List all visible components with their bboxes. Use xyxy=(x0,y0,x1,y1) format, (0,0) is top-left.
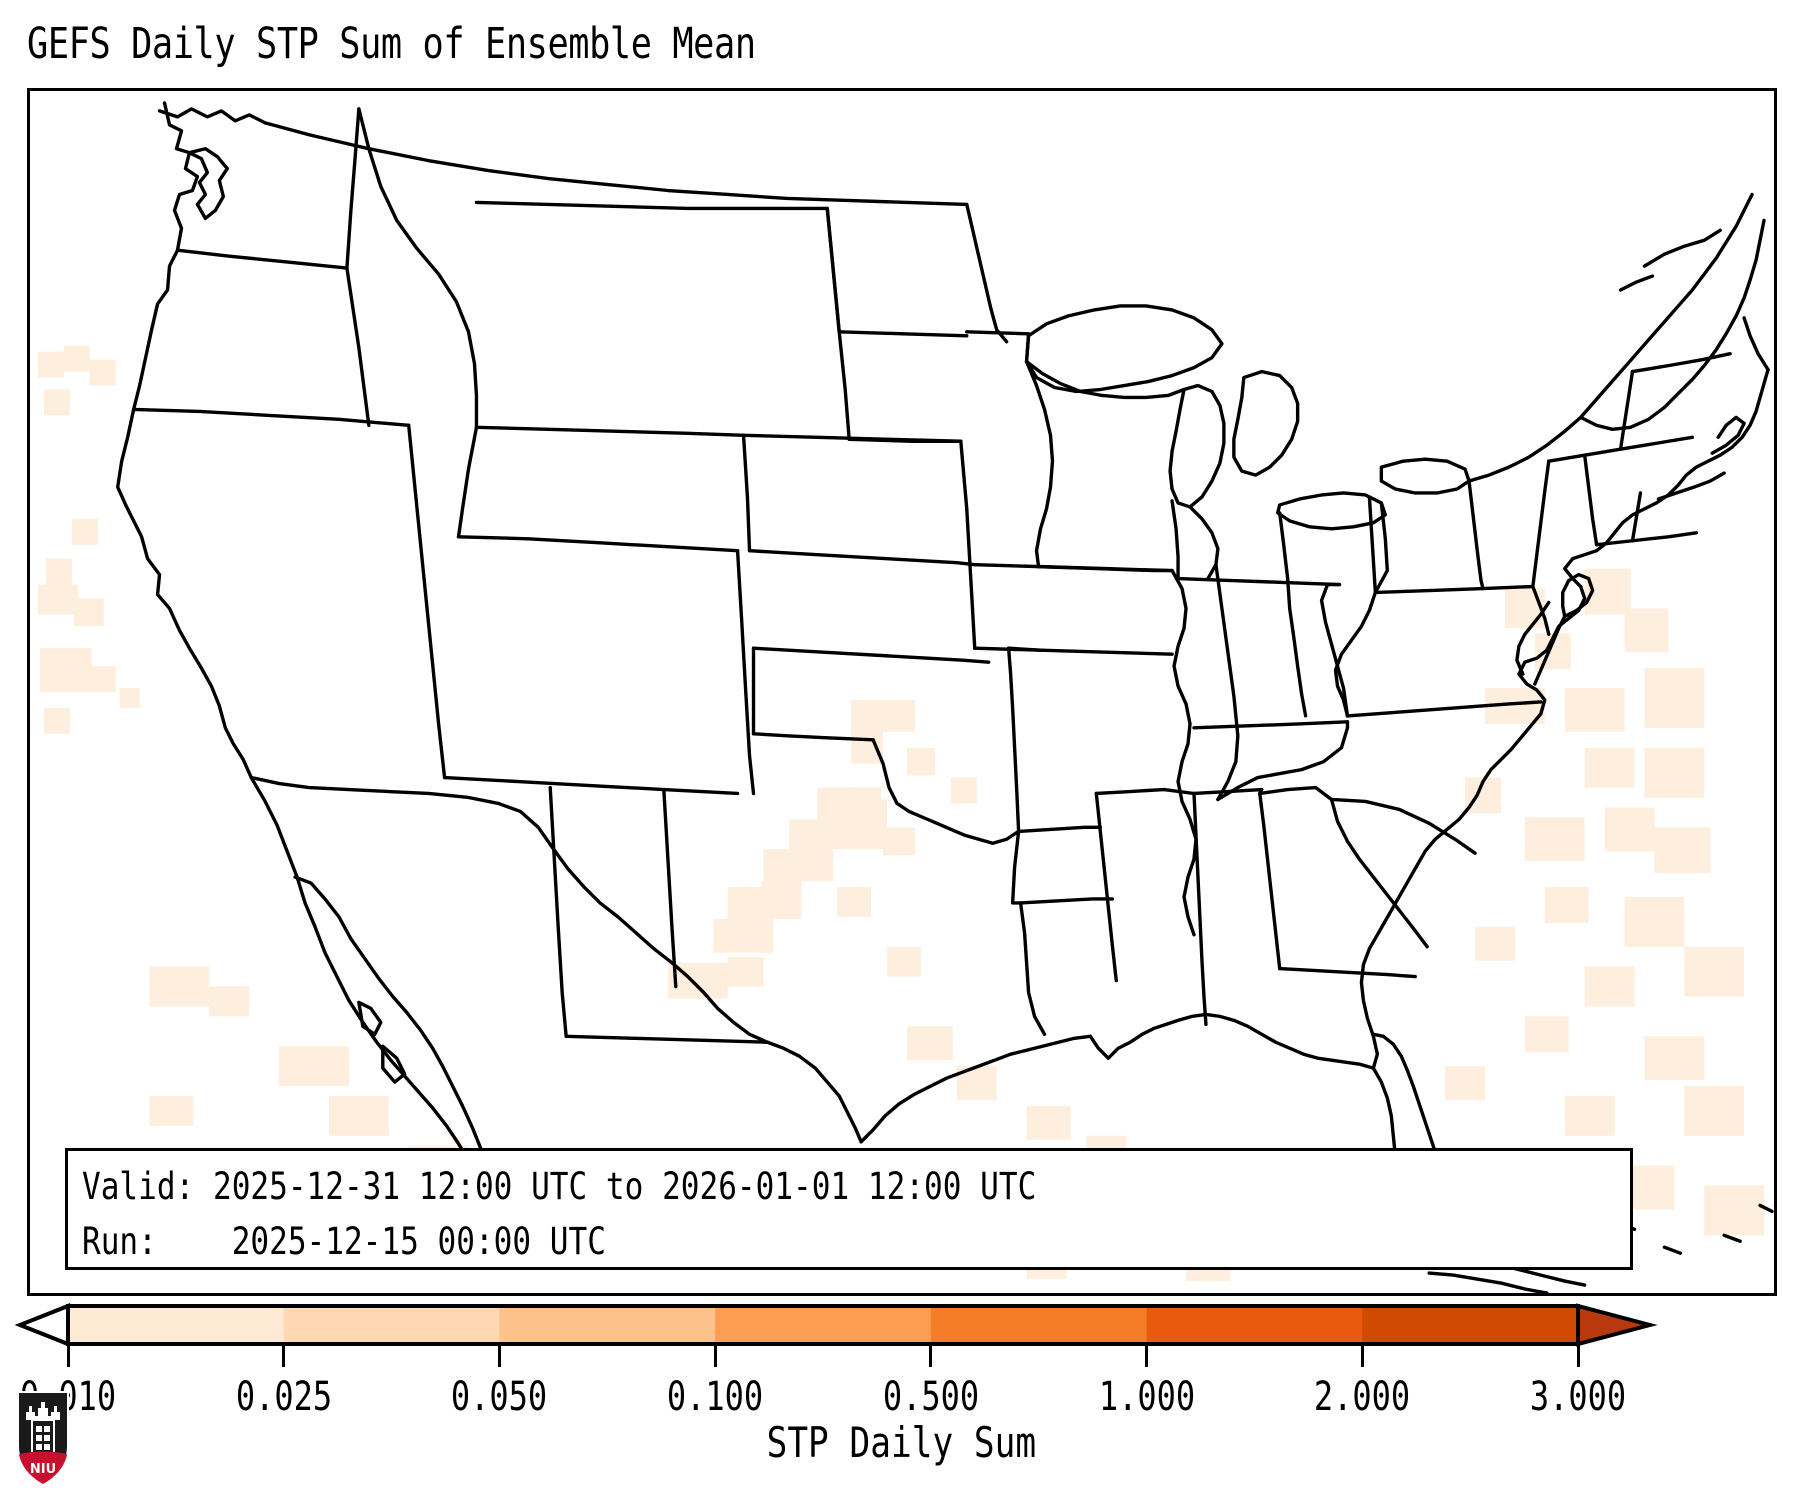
colorbar-tick-2 xyxy=(498,1345,501,1367)
map-panel xyxy=(27,88,1777,1296)
colorbar-tick-1 xyxy=(282,1345,285,1367)
colorbar-tick-label-1: 0.025 xyxy=(236,1374,332,1420)
colorbar-tick-5 xyxy=(1145,1345,1148,1367)
colorbar-tick-label-3: 0.100 xyxy=(667,1374,763,1420)
colorbar-tick-0 xyxy=(67,1345,70,1367)
colorbar-tick-label-5: 1.000 xyxy=(1098,1374,1194,1420)
colorbar-tick-4 xyxy=(929,1345,932,1367)
niu-logo-text: NIU xyxy=(30,1462,56,1477)
figure-canvas: GEFS Daily STP Sum of Ensemble Mean xyxy=(0,0,1803,1500)
run-time-line: Run: 2025-12-15 00:00 UTC xyxy=(82,1214,1382,1269)
colorbar-tick-label-7: 3.000 xyxy=(1530,1374,1626,1420)
valid-time-line: Valid: 2025-12-31 12:00 UTC to 2026-01-0… xyxy=(82,1159,1382,1214)
colorbar-axis-label: STP Daily Sum xyxy=(0,1418,1803,1468)
colorbar-tick-6 xyxy=(1361,1345,1364,1367)
page-title: GEFS Daily STP Sum of Ensemble Mean xyxy=(27,15,756,73)
colorbar-axis-label-text: STP Daily Sum xyxy=(767,1418,1037,1468)
colorbar-ticks: 0.0100.0250.0500.1000.5001.0002.0003.000 xyxy=(0,1300,1803,1380)
colorbar-tick-3 xyxy=(714,1345,717,1367)
colorbar-tick-label-2: 0.050 xyxy=(451,1374,547,1420)
niu-shield-logo: NIU xyxy=(16,1386,70,1486)
colorbar-tick-label-4: 0.500 xyxy=(883,1374,979,1420)
valid-run-annotation-box: Valid: 2025-12-31 12:00 UTC to 2026-01-0… xyxy=(65,1148,1633,1270)
colorbar-tick-7 xyxy=(1577,1345,1580,1367)
map-geography xyxy=(30,91,1774,1293)
colorbar[interactable]: 0.0100.0250.0500.1000.5001.0002.0003.000 xyxy=(0,1300,1803,1360)
colorbar-tick-label-6: 2.000 xyxy=(1314,1374,1410,1420)
